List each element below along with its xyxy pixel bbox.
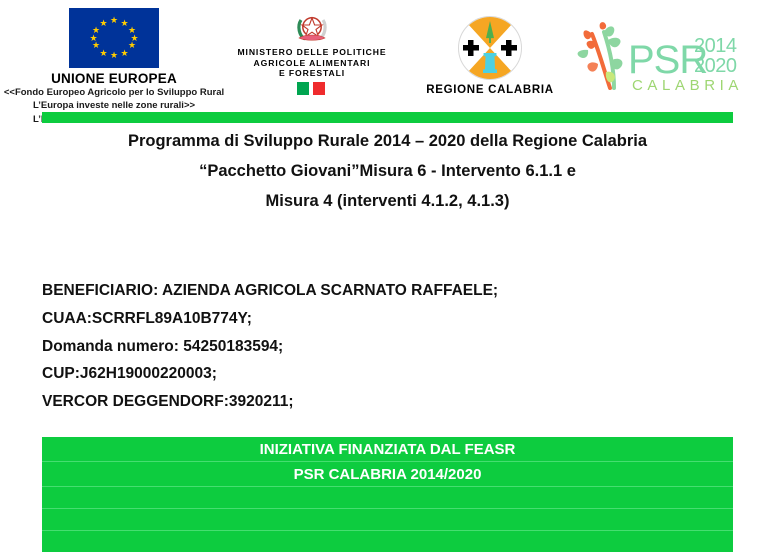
footer-line2: PSR CALABRIA 2014/2020: [42, 462, 733, 487]
page-title-line2: “Pacchetto Giovani”Misura 6 - Intervento…: [42, 156, 733, 186]
footer-line3: [42, 487, 733, 509]
eu-flag-icon: ★ ★ ★ ★ ★ ★ ★ ★ ★ ★ ★ ★: [69, 8, 159, 68]
regione-calabria-logo-block: REGIONE CALABRIA: [420, 16, 560, 96]
psr-year-end: 2020: [694, 56, 737, 76]
ministry-name-line1: MINISTERO DELLE POLITICHE: [222, 47, 402, 58]
regione-calabria-name: REGIONE CALABRIA: [420, 84, 560, 96]
ministry-name-line3: E FORESTALI: [222, 68, 402, 79]
detail-cup: CUP:J62H19000220003;: [42, 360, 702, 388]
logo-header-strip: ★ ★ ★ ★ ★ ★ ★ ★ ★ ★ ★ ★ UNIONE EUROPEA <…: [0, 0, 768, 110]
page-title: Programma di Sviluppo Rurale 2014 – 2020…: [42, 126, 733, 216]
footer-row: PSR CALABRIA 2014/2020: [42, 462, 733, 487]
green-divider-bar: [42, 112, 733, 123]
footer-row: [42, 487, 733, 509]
footer-banner: INIZIATIVA FINANZIATA DAL FEASR PSR CALA…: [42, 437, 733, 552]
ministry-logo-block: MINISTERO DELLE POLITICHE AGRICOLE ALIME…: [222, 14, 402, 95]
eu-logo-subtitle-line1: <<Fondo Europeo Agricolo per lo Sviluppo…: [0, 87, 228, 99]
page-title-line1: Programma di Sviluppo Rurale 2014 – 2020…: [42, 126, 733, 156]
psr-years: 2014 2020: [694, 36, 737, 76]
beneficiary-details: BENEFICIARIO: AZIENDA AGRICOLA SCARNATO …: [42, 277, 702, 416]
footer-line5: [42, 531, 733, 552]
psr-year-start: 2014: [694, 36, 737, 56]
psr-region-label: CALABRIA: [632, 77, 743, 94]
footer-row: [42, 509, 733, 531]
psr-logo-block: PSR 2014 2020 CALABRIA: [562, 18, 742, 98]
regione-calabria-emblem-icon: [458, 16, 522, 80]
eu-logo-subtitle-line2: L’Europa investe nelle zone rurali>>: [0, 100, 228, 112]
detail-vercor-deggendorf: VERCOR DEGGENDORF:3920211;: [42, 388, 702, 416]
italian-flag-icon: [297, 82, 327, 95]
page-title-line3: Misura 4 (interventi 4.1.2, 4.1.3): [42, 186, 733, 216]
footer-line4: [42, 509, 733, 531]
ministry-name-line2: AGRICOLE ALIMENTARI: [222, 58, 402, 69]
eu-logo-name: UNIONE EUROPEA: [0, 71, 228, 86]
detail-beneficiario: BENEFICIARIO: AZIENDA AGRICOLA SCARNATO …: [42, 277, 702, 305]
detail-domanda-numero: Domanda numero: 54250183594;: [42, 333, 702, 361]
footer-row: [42, 531, 733, 552]
eu-logo-block: ★ ★ ★ ★ ★ ★ ★ ★ ★ ★ ★ ★ UNIONE EUROPEA <…: [0, 8, 228, 123]
detail-cuaa: CUAA:SCRRFL89A10B774Y;: [42, 305, 702, 333]
footer-line1: INIZIATIVA FINANZIATA DAL FEASR: [42, 437, 733, 462]
italian-republic-emblem-icon: [295, 14, 329, 44]
footer-row: INIZIATIVA FINANZIATA DAL FEASR: [42, 437, 733, 462]
